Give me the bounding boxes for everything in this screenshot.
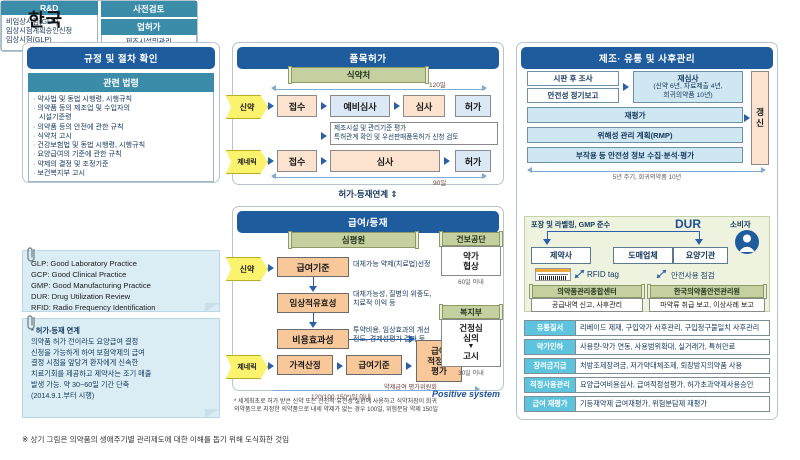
center-drug-safety: 한국의약품안전관리원 마약류 취급 보고, 이상사례 보고: [649, 285, 765, 312]
mfds-banner: 식약처: [290, 67, 427, 83]
law-item: 보건복지부 고시: [33, 169, 210, 178]
link-label-text: 허가-등재연계: [338, 189, 388, 199]
note-line-0: 제조시설 및 관리기준 평가: [334, 125, 494, 134]
step-generic-criteria: 급여기준: [346, 355, 402, 375]
tag-generic: 제네릭: [226, 150, 268, 174]
down-arrow-icon: ▼: [468, 343, 475, 350]
page-title: 한국: [28, 6, 63, 32]
safety-institute-body: 마약류 취급 보고, 이상사례 보고: [649, 298, 765, 312]
callout-tail: [205, 303, 219, 312]
paperclip-icon: [26, 314, 38, 330]
callout-link-line: 신청을 가능하게 하여 보험약제의 급여: [31, 348, 213, 359]
table-row: 장려금지급처방조제장려금, 저가약대체조제, 퇴장방지의약품 사용: [524, 358, 770, 374]
table-row-value: 요양급여비용심사, 급여적정성평가, 허가초과약제사용승인: [576, 377, 770, 393]
callout-link-title: * 허가-등재 연계: [31, 326, 213, 337]
table-row-value: 사용량-약가 연동, 사용범위확대, 실거래가, 특허만료: [576, 339, 770, 355]
box-mohw: 복지부 건정심 심의 ▼ 고시 30일 이내: [441, 305, 501, 377]
note-criteria: 대체가능 약제(치료법)선정: [353, 261, 430, 270]
safety-institute-header: 한국의약품안전관리원: [649, 285, 765, 298]
diagonal-arrow-icon: [655, 267, 669, 281]
arrow: [321, 157, 327, 165]
step-newdrug-approval: 허가: [455, 95, 491, 117]
callout-link-line: 발생 가능. 약 30~60일 기간 단축: [31, 380, 213, 391]
law-item: 건강보험법 및 동법 시행령, 시행규칙: [33, 141, 210, 150]
prereview-header: 사전검토: [101, 1, 198, 17]
abbreviation-line: GLP: Good Laboratory Practice: [31, 258, 213, 269]
rfid-tag-bar: [536, 269, 570, 272]
consumer-person-icon: [731, 229, 763, 255]
step-newdrug-prereview: 예비심사: [330, 95, 390, 117]
law-item: 약사법 및 동법 시행령, 시행규칙: [33, 95, 210, 104]
arrow: [309, 322, 317, 328]
reexamination-detail-1: (신약 6년, 자료제출 4년,: [653, 83, 722, 91]
step-clinical-efficacy: 임상적유효성: [277, 293, 349, 313]
law-item: 약제의 결정 및 조정기준: [33, 160, 210, 169]
abbreviation-line: GCP: Good Clinical Practice: [31, 269, 213, 280]
span-arrow-left: [271, 173, 276, 179]
mohw-notice: 고시: [463, 350, 479, 362]
arrow: [268, 362, 274, 370]
tag-generic-2: 제네릭: [226, 355, 268, 379]
reexamination-detail-2: 희귀의약품 10년): [663, 92, 712, 100]
newdrug-duration-label: 120일: [429, 79, 446, 89]
law-item: 시설기준령: [33, 113, 210, 122]
post-market-survey: 시판 후 조사: [527, 71, 619, 86]
arrow: [321, 102, 327, 110]
supply-center-body: 공급내역 신고, 사후관리: [531, 298, 643, 312]
entity-wholesaler: 도매업체: [613, 247, 673, 264]
table-row: 유통질서리베이드 제재, 구입약가 사후관리, 구입청구불일치 사후관리: [524, 320, 770, 336]
step-price-calc: 가격산정: [277, 355, 333, 375]
entity-medical-institution: 요양기관: [673, 247, 728, 264]
related-laws-list: 약사법 및 동법 시행령, 시행규칙의약품 등의 제조업 및 수입자의시설기준령…: [28, 92, 214, 182]
table-row-value: 리베이드 제재, 구입약가 사후관리, 구입청구불일치 사후관리: [576, 320, 770, 336]
hira-banner: 심평원: [290, 232, 417, 248]
arrow: [268, 264, 274, 272]
panel-manufacturing-header: 제조· 유통 및 사후관리: [521, 47, 773, 69]
generic-duration-line: [273, 177, 485, 178]
arrow: [543, 239, 551, 245]
callout-link-line: 치료기회를 제공하고 제약사는 조기 매출: [31, 369, 213, 380]
arrow: [337, 362, 343, 370]
callout-abbreviations: GLP: Good Laboratory PracticeGCP: Good C…: [22, 250, 220, 312]
reexamination-title: 재심사: [678, 74, 699, 83]
law-item: 의약품 등의 안전에 관한 규칙: [33, 123, 210, 132]
supply-center-header: 의약품관리종합센터: [531, 285, 643, 298]
step-generic-receipt: 접수: [277, 150, 317, 172]
nhis-header: 건보공단: [441, 232, 501, 246]
step-generic-approval: 허가: [455, 150, 491, 172]
rfid-tag-image: [535, 268, 571, 281]
span-arrow-right: [482, 85, 487, 91]
cycle-note: 5년 주기, 희귀의약품 10년: [517, 172, 777, 181]
callout-tail: [205, 409, 219, 418]
note-mfds-checks: 제조시설 및 관리기준 평가 특허관계 확인 및 우선판매품목허가 신청 검토: [330, 122, 498, 145]
license-header: 업허가: [101, 17, 198, 35]
callout-approval-listing-link: * 허가-등재 연계 의약품 허가 전이라도 요양급여 결정신청을 가능하게 하…: [22, 318, 220, 418]
arrow: [268, 157, 274, 165]
table-row-value: 처방조제장려금, 저가약대체조제, 퇴장방지의약품 사용: [576, 358, 770, 374]
tag-new-drug-2-label: 신약: [226, 257, 268, 281]
arrow: [321, 132, 327, 140]
arrow: [623, 83, 629, 91]
mohw-body: 건정심 심의 ▼ 고시: [441, 319, 501, 367]
panel-reimbursement-header: 급여/등재: [237, 211, 499, 233]
table-row-key: 급여 재평가: [524, 396, 576, 412]
step-cost-effectiveness: 비용효과성: [277, 329, 349, 349]
arrow: [394, 102, 400, 110]
reimbursement-footnote: * 세계최초로 허가 받은 신약 또는 선천적 유전성 질환에 사용하고 식약처…: [234, 398, 506, 414]
abbreviation-line: RFID: Radio Frequency Identification: [31, 302, 213, 313]
note-clinical-efficacy: 대체가능성, 질병의 위중도, 치료적 이익 등: [353, 291, 432, 309]
mohw-header: 복지부: [441, 305, 501, 319]
callout-link-line: 결정 시점을 앞당겨 환자에게 신속한: [31, 358, 213, 369]
paperclip-icon: [26, 246, 38, 262]
step-newdrug-receipt: 접수: [277, 95, 317, 117]
abbreviation-line: GMP: Good Manufacturing Practice: [31, 280, 213, 291]
center-supply-management: 의약품관리종합센터 공급내역 신고, 사후관리: [531, 285, 643, 312]
nhis-period: 60일 이내: [441, 277, 501, 286]
dur-label: DUR: [675, 217, 701, 231]
table-row-key: 약가인하: [524, 339, 576, 355]
approval-listing-link-label: 허가-등재연계 ⇕: [232, 188, 504, 200]
tag-generic-2-label: 제네릭: [226, 355, 268, 379]
diagonal-arrow-icon: [572, 267, 586, 281]
note-line-1: 특허관계 확인 및 우선판매품목허가 신청 검토: [334, 134, 494, 143]
newdrug-duration-line: [273, 89, 485, 90]
tag-new-drug-label: 신약: [226, 95, 268, 119]
reexamination-box: 재심사 (신약 6년, 자료제출 4년, 희귀의약품 10년): [633, 71, 743, 103]
span-arrow-left: [271, 85, 276, 91]
safety-check-label: 안전사용 점검: [671, 270, 714, 281]
connector: [349, 339, 411, 340]
span-arrow-right: [482, 173, 487, 179]
table-row: 급여 재평가기등재약제 급여재평가, 위험분담제 재평가: [524, 396, 770, 412]
related-laws-header: 관련 법령: [28, 73, 214, 92]
panel-product-approval: 품목허가 식약처 120일 신약 접수 예비심사 심사 허가 제조시설 및 관리…: [232, 42, 504, 185]
arrow: [444, 157, 450, 165]
step-reimb-criteria: 급여기준: [277, 257, 349, 277]
updown-arrow-icon: ⇕: [391, 189, 398, 199]
arrow: [695, 239, 703, 245]
renewal-box: 갱 신: [751, 71, 769, 165]
gmp-label: 포장 및 라벨링, GMP 준수: [531, 220, 610, 230]
panel-regulations-header: 규정 및 절차 확인: [27, 47, 215, 69]
table-row-value: 기등재약제 급여재평가, 위험분담제 재평가: [576, 396, 770, 412]
law-item: 요양급여의 기준에 관한 규칙: [33, 150, 210, 159]
bottom-footnote: ※ 상기 그림은 의약품의 생애주기별 관리제도에 대한 이해를 돕기 위해 도…: [22, 434, 289, 445]
callout-link-line: (2014.9.1.부터 시행): [31, 391, 213, 402]
arrow: [406, 362, 412, 370]
arrow: [309, 286, 317, 292]
arrow: [409, 335, 415, 343]
footnote-line-1: 의약품으로 지정한 의약품으로 내세 약제가 없는 경우 100일, 위험분담 …: [234, 406, 506, 414]
row-rmp: 위해성 관리 계획(RMP): [527, 127, 743, 143]
table-row: 적정사용관리요양급여비용심사, 급여적정성평가, 허가초과약제사용승인: [524, 377, 770, 393]
panel-regulations: 규정 및 절차 확인 관련 법령 약사법 및 동법 시행령, 시행규칙의약품 등…: [22, 42, 220, 183]
footnote-line-0: * 세계최초로 허가 받은 신약 또는 선천적 유전성 질환에 사용하고 식약처…: [234, 398, 506, 406]
tag-generic-label: 제네릭: [226, 150, 268, 174]
row-reevaluation: 재평가: [527, 107, 743, 123]
tag-new-drug: 신약: [226, 95, 268, 119]
rfid-barcode: [539, 276, 567, 280]
table-row: 약가인하사용량-약가 연동, 사용범위확대, 실거래가, 특허만료: [524, 339, 770, 355]
law-item: 식약처 고시: [33, 132, 210, 141]
panel-product-approval-header: 품목허가: [237, 47, 499, 69]
generic-duration-label: 90일: [433, 177, 446, 187]
step-newdrug-review: 심사: [403, 95, 445, 117]
entity-pharma-company: 제약사: [531, 247, 591, 264]
row-adverse-events: 부작용 등 안전성 정보 수집·분석·평가: [527, 147, 743, 163]
rfid-label: RFID tag: [587, 270, 619, 279]
arrow: [268, 102, 274, 110]
callout-link-line: 의약품 허가 전이라도 요양급여 결정: [31, 337, 213, 348]
step-generic-review: 심사: [330, 150, 440, 172]
tag-new-drug-2: 신약: [226, 257, 268, 281]
nhis-body: 약가 협상: [441, 246, 501, 276]
rfid-tag-line: [538, 274, 568, 275]
table-row-key: 적정사용관리: [524, 377, 576, 393]
dur-distribution-area: 포장 및 라벨링, GMP 준수 DUR 소비자 제약사 도매업체 요양기관 R…: [524, 216, 770, 312]
table-row-key: 장려금지급: [524, 358, 576, 374]
diagram-root: 한국 규정 및 절차 확인 관련 법령 약사법 및 동법 시행령, 시행규칙의약…: [0, 0, 800, 460]
table-row-key: 유통질서: [524, 320, 576, 336]
dur-connector: [547, 231, 699, 232]
arrow: [744, 114, 750, 122]
safety-periodic-report: 안전성 정기보고: [527, 88, 619, 103]
abbreviation-line: DUR: Drug Utilization Review: [31, 291, 213, 302]
mohw-deliberation: 건정심 심의: [459, 324, 482, 344]
mohw-period: 30일 이내: [441, 368, 501, 377]
box-nhis: 건보공단 약가 협상 60일 이내: [441, 232, 501, 286]
